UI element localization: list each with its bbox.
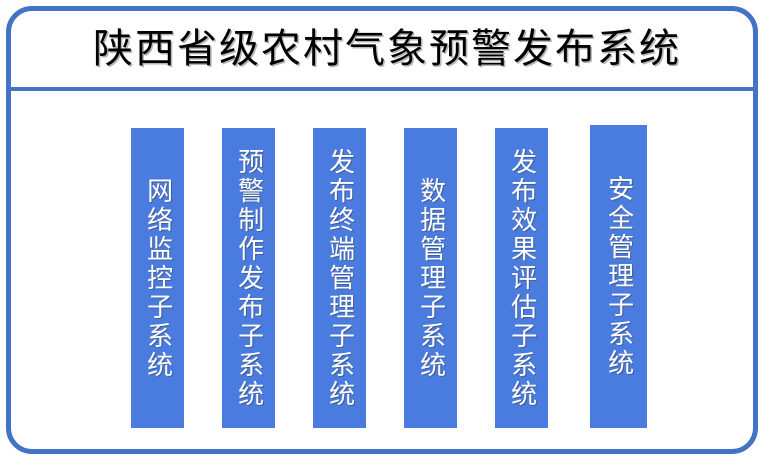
subsystem-block-label: 发布终端管理子系统 — [324, 148, 354, 409]
subsystem-block-data-management[interactable]: 数据管理子系统 — [404, 128, 457, 428]
subsystem-block-label: 发布效果评估子系统 — [506, 148, 536, 409]
subsystem-block-label: 安全管理子系统 — [603, 175, 633, 378]
subsystem-block-release-effect-evaluation[interactable]: 发布效果评估子系统 — [495, 128, 548, 428]
subsystem-block-label: 网络监控子系统 — [142, 177, 172, 380]
subsystem-columns-area: 网络监控子系统 预警制作发布子系统 发布终端管理子系统 数据管理子系统 发布效果… — [6, 91, 758, 454]
subsystem-block-label: 数据管理子系统 — [415, 177, 445, 380]
subsystem-block-security-management[interactable]: 安全管理子系统 — [590, 125, 647, 428]
subsystem-block-warning-production-release[interactable]: 预警制作发布子系统 — [222, 128, 275, 428]
subsystem-block-label: 预警制作发布子系统 — [233, 148, 263, 409]
subsystem-block-network-monitoring[interactable]: 网络监控子系统 — [131, 128, 184, 428]
diagram-title-band: 陕西省级农村气象预警发布系统 — [6, 6, 758, 91]
page-title: 陕西省级农村气象预警发布系统 — [83, 27, 681, 71]
subsystem-block-release-terminal-management[interactable]: 发布终端管理子系统 — [313, 128, 366, 428]
system-architecture-diagram: 陕西省级农村气象预警发布系统 网络监控子系统 预警制作发布子系统 发布终端管理子… — [0, 0, 776, 469]
